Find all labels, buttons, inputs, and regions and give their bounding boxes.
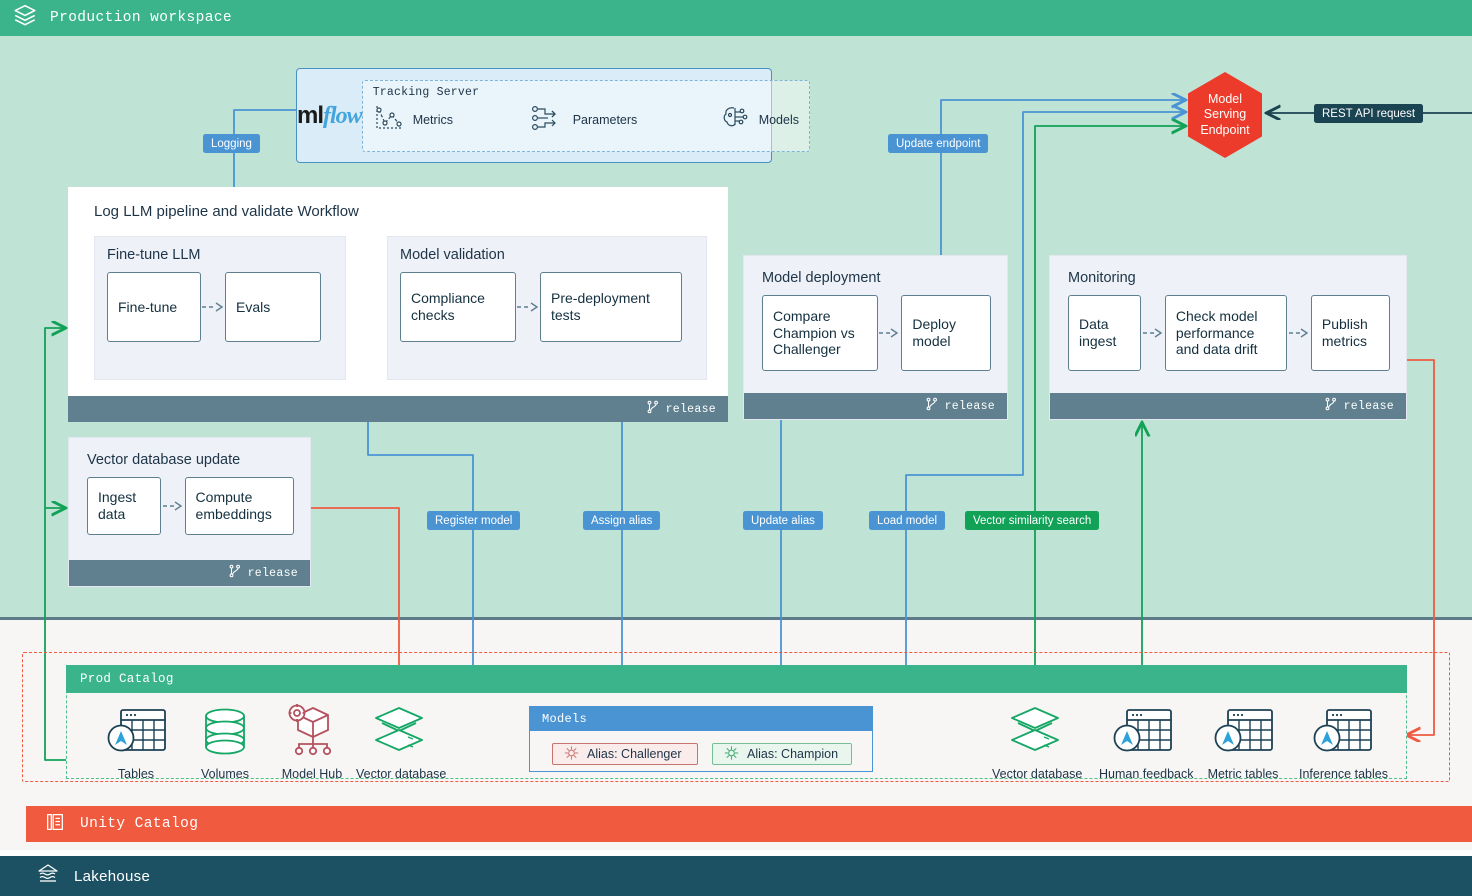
catalog-book-icon	[44, 811, 66, 838]
node-ingest-data[interactable]: Ingest data	[87, 477, 161, 535]
line-chart-icon	[373, 103, 405, 138]
edge-label-load-model: Load model	[869, 511, 945, 530]
node-label: Fine-tune	[118, 299, 177, 316]
model-alias-icon	[563, 745, 580, 764]
edge-label-text: Register model	[435, 515, 512, 527]
node-publish-metrics[interactable]: Publish metrics	[1311, 295, 1390, 371]
group-model-deployment: Model deployment Compare Champion vs Cha…	[744, 256, 1009, 395]
group-title: Vector database update	[87, 452, 294, 468]
release-bar: release	[1050, 393, 1406, 419]
edge-label-text: Update endpoint	[896, 138, 980, 150]
release-label: release	[1344, 400, 1394, 413]
catalog-item-label: Model Hub	[269, 767, 355, 781]
table-icon	[1212, 745, 1274, 762]
tracking-item-parameters: Parameters	[531, 103, 711, 138]
tracking-item-label: Parameters	[573, 113, 638, 127]
mlflow-logo: mlflow	[297, 102, 362, 130]
tracking-server-title: Tracking Server	[373, 86, 799, 99]
edge-label-rest-api-request: REST API request	[1314, 104, 1423, 123]
workflow-title: Log LLM pipeline and validate Workflow	[94, 203, 359, 220]
alias-champion[interactable]: Alias: Champion	[712, 743, 852, 765]
catalog-item-metric-tables[interactable]: Metric tables	[1200, 706, 1286, 781]
table-icon	[1311, 745, 1373, 762]
node-label: Compliance checks	[411, 290, 505, 324]
git-branch-icon	[646, 400, 660, 419]
node-compliance-checks[interactable]: Compliance checks	[400, 272, 516, 342]
alias-label: Alias: Champion	[747, 747, 838, 761]
model-hub-icon	[283, 745, 341, 762]
group-title: Fine-tune LLM	[107, 247, 333, 263]
prod-catalog-title: Prod Catalog	[80, 672, 174, 686]
catalog-item-label: Metric tables	[1200, 767, 1286, 781]
tracking-item-metrics: Metrics	[373, 103, 523, 138]
node-label: Ingest data	[98, 489, 150, 523]
models-box: Models Alias: Challenger Alias: Champion	[529, 706, 873, 772]
edge-label-register-model: Register model	[427, 511, 520, 530]
catalog-item-label: Vector database	[356, 767, 442, 781]
node-evals[interactable]: Evals	[225, 272, 321, 342]
alias-challenger[interactable]: Alias: Challenger	[552, 743, 698, 765]
endpoint-line-3: Endpoint	[1200, 123, 1249, 139]
endpoint-line-2: Serving	[1204, 107, 1246, 123]
group-model-validation: Model validation Compliance checks Pre-d…	[387, 236, 707, 380]
lakehouse-bar: Lakehouse	[0, 856, 1472, 896]
group-fine-tune-llm: Fine-tune LLM Fine-tune Evals	[94, 236, 346, 380]
branching-parameters-icon	[531, 103, 565, 138]
edge-label-text: Logging	[211, 138, 252, 150]
git-branch-icon	[925, 397, 939, 416]
node-data-ingest[interactable]: Data ingest	[1068, 295, 1141, 371]
dashed-connector	[1287, 327, 1311, 339]
node-label: Publish metrics	[1322, 316, 1379, 350]
release-label: release	[945, 400, 995, 413]
catalog-item-vector-database-right[interactable]: Vector database	[992, 704, 1078, 781]
edge-label-text: Load model	[877, 515, 937, 527]
catalog-item-vector-database-left[interactable]: Vector database	[356, 704, 442, 781]
models-title: Models	[542, 712, 587, 726]
models-header: Models	[530, 707, 872, 731]
vector-db-stack-icon	[368, 745, 430, 762]
dashed-connector	[161, 500, 185, 512]
lakehouse-icon	[36, 862, 60, 891]
group-title: Model deployment	[762, 270, 991, 286]
tracking-server-box: Tracking Server Metrics	[362, 80, 810, 152]
catalog-item-label: Tables	[93, 767, 179, 781]
catalog-item-label: Vector database	[992, 767, 1078, 781]
node-label: Compute embeddings	[196, 489, 283, 523]
release-bar: release	[744, 393, 1007, 419]
unity-catalog-bar: Unity Catalog	[26, 806, 1472, 842]
node-pre-deployment-tests[interactable]: Pre-deployment tests	[540, 272, 682, 342]
alias-label: Alias: Challenger	[587, 747, 682, 761]
prod-catalog-header: Prod Catalog	[66, 665, 1407, 693]
catalog-item-inference-tables[interactable]: Inference tables	[1299, 706, 1385, 781]
edge-label-text: Assign alias	[591, 515, 652, 527]
workspace-header: Production workspace	[0, 0, 1472, 36]
node-label: Compare Champion vs Challenger	[773, 308, 867, 358]
node-label: Data ingest	[1079, 316, 1130, 350]
group-monitoring: Monitoring Data ingest Check model perfo…	[1050, 256, 1408, 395]
release-bar: release	[69, 560, 310, 586]
mlflow-panel: mlflow Tracking Server Metrics	[296, 68, 772, 163]
catalog-item-human-feedback[interactable]: Human feedback	[1099, 706, 1185, 781]
git-branch-icon	[1324, 397, 1338, 416]
node-compare-champion-vs-challenger[interactable]: Compare Champion vs Challenger	[762, 295, 878, 371]
dashed-connector	[878, 327, 902, 339]
tracking-item-models: Models	[719, 103, 799, 138]
group-vector-database-update: Vector database update Ingest data Compu…	[69, 438, 312, 562]
node-compute-embeddings[interactable]: Compute embeddings	[185, 477, 294, 535]
monitoring-workflow: Monitoring Data ingest Check model perfo…	[1049, 255, 1407, 420]
release-label: release	[666, 403, 716, 416]
layers-icon	[12, 3, 38, 34]
log-llm-pipeline-workflow: Log LLM pipeline and validate Workflow F…	[68, 187, 728, 422]
edge-label-text: Vector similarity search	[973, 515, 1091, 527]
git-branch-icon	[228, 564, 242, 583]
edge-label-update-endpoint: Update endpoint	[888, 134, 988, 153]
vector-database-update-workflow: Vector database update Ingest data Compu…	[68, 437, 311, 587]
node-label: Deploy model	[912, 316, 980, 350]
release-label: release	[248, 567, 298, 580]
database-cylinder-icon	[196, 745, 254, 762]
edge-label-vector-similarity-search: Vector similarity search	[965, 511, 1099, 530]
tracking-item-label: Metrics	[413, 113, 453, 127]
edge-label-text: REST API request	[1322, 108, 1415, 120]
node-label: Pre-deployment tests	[551, 290, 671, 324]
group-title: Model validation	[400, 247, 694, 263]
edge-label-assign-alias: Assign alias	[583, 511, 660, 530]
node-label: Check model performance and data drift	[1176, 308, 1276, 358]
edge-label-text: Update alias	[751, 515, 815, 527]
dashed-connector	[516, 301, 540, 313]
brain-model-icon	[719, 103, 751, 138]
catalog-item-label: Human feedback	[1099, 767, 1185, 781]
mlflow-logo-flow: flow	[323, 103, 362, 129]
node-fine-tune[interactable]: Fine-tune	[107, 272, 201, 342]
dashed-connector	[201, 301, 225, 313]
table-icon	[1111, 745, 1173, 762]
workspace-title: Production workspace	[50, 10, 232, 26]
table-icon	[105, 745, 167, 762]
model-alias-icon	[723, 745, 740, 764]
node-label: Evals	[236, 299, 270, 316]
release-bar: release	[68, 396, 728, 422]
edge-label-logging: Logging	[203, 134, 260, 153]
vector-db-stack-icon	[1004, 745, 1066, 762]
catalog-item-model-hub[interactable]: Model Hub	[269, 702, 355, 781]
mlflow-logo-ml: ml	[297, 102, 323, 129]
endpoint-line-1: Model	[1208, 92, 1242, 108]
edge-label-update-alias: Update alias	[743, 511, 823, 530]
tracking-item-label: Models	[759, 113, 799, 127]
dashed-connector	[1141, 327, 1165, 339]
catalog-item-tables[interactable]: Tables	[93, 706, 179, 781]
group-title: Monitoring	[1068, 270, 1390, 286]
catalog-item-label: Inference tables	[1299, 767, 1385, 781]
node-check-model-performance[interactable]: Check model performance and data drift	[1165, 295, 1287, 371]
node-deploy-model[interactable]: Deploy model	[901, 295, 991, 371]
catalog-item-volumes[interactable]: Volumes	[182, 706, 268, 781]
catalog-item-label: Volumes	[182, 767, 268, 781]
unity-catalog-title: Unity Catalog	[80, 816, 198, 832]
model-deployment-workflow: Model deployment Compare Champion vs Cha…	[743, 255, 1008, 420]
lakehouse-title: Lakehouse	[74, 868, 150, 885]
